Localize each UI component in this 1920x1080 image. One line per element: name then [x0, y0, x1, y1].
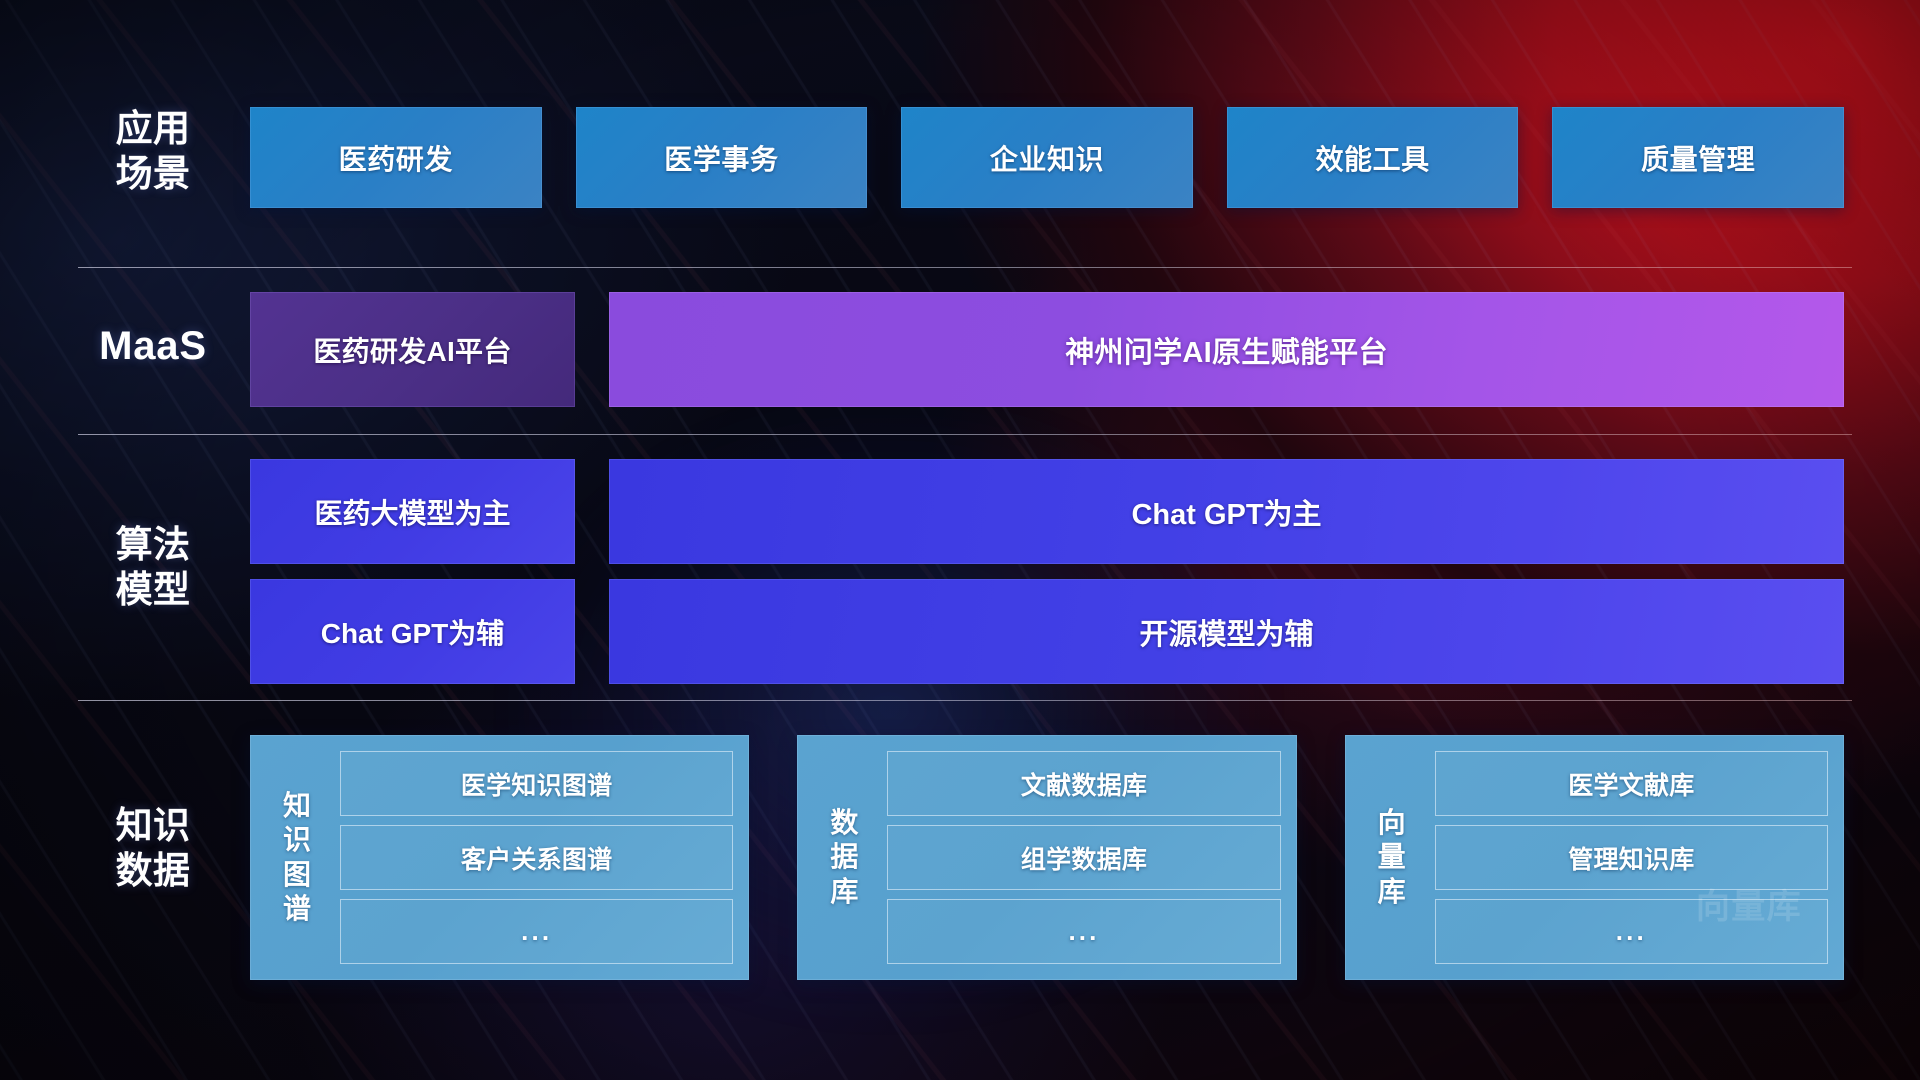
row-label-algorithm-models: 算法 模型 [78, 522, 228, 612]
row-label-maas: MaaS [78, 322, 228, 371]
knowledge-group-label: 数 据 库 [815, 747, 873, 968]
row-separator-2 [78, 434, 1852, 435]
app-card-5[interactable]: 质量管理 [1552, 107, 1844, 208]
vlabel-char: 识 [283, 824, 311, 856]
app-card-4[interactable]: 效能工具 [1227, 107, 1519, 208]
knowledge-group-database: 数 据 库 文献数据库 组学数据库 ... [797, 735, 1296, 980]
knowledge-group-items: 医学知识图谱 客户关系图谱 ... [340, 747, 735, 968]
algorithm-line-primary: 医药大模型为主 Chat GPT为主 [250, 459, 1844, 564]
row-label-line: 数据 [78, 848, 228, 893]
knowledge-data-groups: 知 识 图 谱 医学知识图谱 客户关系图谱 ... 数 据 库 [250, 735, 1844, 980]
maas-row: 医药研发AI平台 神州问学AI原生赋能平台 [250, 292, 1844, 407]
vlabel-char: 图 [283, 859, 311, 891]
algo-card-secondary-right[interactable]: 开源模型为辅 [609, 579, 1844, 684]
app-card-2[interactable]: 医学事务 [576, 107, 868, 208]
knowledge-group-label: 向 量 库 [1363, 747, 1421, 968]
knowledge-group-knowledge-graph: 知 识 图 谱 医学知识图谱 客户关系图谱 ... [250, 735, 749, 980]
row-label-line: 知识 [78, 803, 228, 848]
row-label-line: 算法 [78, 522, 228, 567]
knowledge-item-more[interactable]: ... [340, 899, 733, 964]
algorithm-line-secondary: Chat GPT为辅 开源模型为辅 [250, 579, 1844, 684]
row-label-application-scenarios: 应用 场景 [78, 106, 228, 196]
vlabel-char: 向 [1378, 807, 1406, 839]
maas-card-pharma-ai-platform[interactable]: 医药研发AI平台 [250, 292, 575, 407]
maas-card-native-ai-platform[interactable]: 神州问学AI原生赋能平台 [609, 292, 1844, 407]
row-label-line: MaaS [78, 322, 228, 371]
knowledge-item[interactable]: 医学知识图谱 [340, 751, 733, 816]
row-label-line: 模型 [78, 567, 228, 612]
row-separator-1 [78, 267, 1852, 268]
vlabel-char: 库 [1378, 876, 1406, 908]
vlabel-char: 知 [283, 790, 311, 822]
knowledge-item[interactable]: 管理知识库 [1435, 825, 1828, 890]
knowledge-group-vector-store: 向 量 库 医学文献库 管理知识库 ... 向量库 [1345, 735, 1844, 980]
knowledge-group-items: 文献数据库 组学数据库 ... [887, 747, 1282, 968]
algo-card-primary-left[interactable]: 医药大模型为主 [250, 459, 575, 564]
knowledge-item[interactable]: 文献数据库 [887, 751, 1280, 816]
app-card-1[interactable]: 医药研发 [250, 107, 542, 208]
application-scenario-cards: 医药研发 医学事务 企业知识 效能工具 质量管理 [250, 107, 1844, 208]
vlabel-char: 据 [830, 841, 858, 873]
knowledge-item-more[interactable]: ... [1435, 899, 1828, 964]
vlabel-char: 库 [830, 876, 858, 908]
vlabel-char: 数 [830, 807, 858, 839]
knowledge-item-more[interactable]: ... [887, 899, 1280, 964]
vlabel-char: 谱 [283, 893, 311, 925]
knowledge-item[interactable]: 组学数据库 [887, 825, 1280, 890]
algorithm-model-row: 医药大模型为主 Chat GPT为主 Chat GPT为辅 开源模型为辅 [250, 459, 1844, 684]
row-label-line: 场景 [78, 151, 228, 196]
knowledge-item[interactable]: 医学文献库 [1435, 751, 1828, 816]
knowledge-group-label: 知 识 图 谱 [268, 747, 326, 968]
algo-card-primary-right[interactable]: Chat GPT为主 [609, 459, 1844, 564]
row-label-knowledge-data: 知识 数据 [78, 803, 228, 893]
row-label-line: 应用 [78, 106, 228, 151]
app-card-3[interactable]: 企业知识 [901, 107, 1193, 208]
vlabel-char: 量 [1378, 841, 1406, 873]
knowledge-group-items: 医学文献库 管理知识库 ... [1435, 747, 1830, 968]
algo-card-secondary-left[interactable]: Chat GPT为辅 [250, 579, 575, 684]
knowledge-item[interactable]: 客户关系图谱 [340, 825, 733, 890]
diagram-canvas: 应用 场景 医药研发 医学事务 企业知识 效能工具 质量管理 MaaS 医药研发… [0, 0, 1920, 1080]
row-separator-3 [78, 700, 1852, 701]
